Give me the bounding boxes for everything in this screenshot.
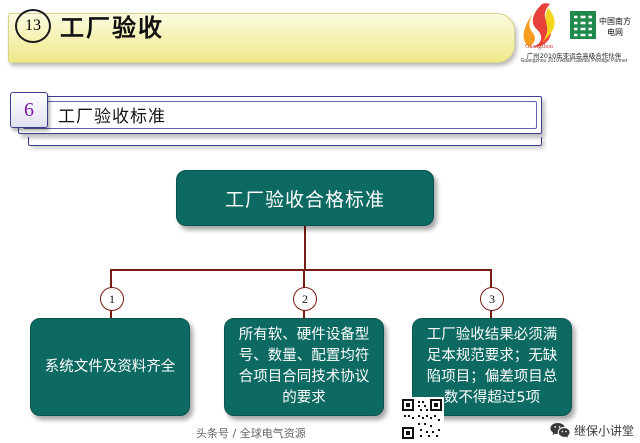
connector-branch-2: [303, 269, 305, 288]
logo-caption-english: Guangzhou 2010 Asian Games Prestige Part…: [512, 58, 636, 64]
footer-wechat-label: 继保小讲堂: [574, 422, 634, 439]
slide-canvas: 13 工厂验收 Guangzhou 中国南方 电网 广州2010年亚运会高级合作…: [0, 0, 640, 443]
qr-code: [400, 397, 444, 441]
diagram-branch-node-2: 所有软、硬件设备型号、数量、配置均符合项目合同技术协议的要求: [224, 318, 384, 416]
guangzhou-2010-asian-games-torch-logo: Guangzhou: [512, 2, 566, 50]
subheader-number: 6: [10, 92, 48, 128]
branch-marker-2: 2: [293, 287, 317, 311]
diagram-branch-node-1: 系统文件及资料齐全: [30, 318, 190, 416]
connector-root-vertical: [304, 226, 306, 270]
logo-area: Guangzhou 中国南方 电网 广州2010年亚运会高级合作伙伴 Guang…: [512, 2, 636, 68]
footer-wechat-block: 继保小讲堂: [550, 422, 634, 439]
footer-source-text: 头条号 / 全球电气资源: [196, 425, 306, 441]
page-title: 工厂验收: [60, 8, 164, 43]
subheader-title: 工厂验收标准: [58, 102, 166, 127]
china-southern-power-grid-logo: 中国南方 电网: [570, 5, 634, 47]
slide-title-number: 13: [15, 9, 51, 43]
branch-marker-3: 3: [480, 287, 504, 311]
wechat-icon: [550, 422, 570, 439]
svg-text:中国南方: 中国南方: [599, 16, 631, 26]
branch-marker-1: 1: [100, 287, 124, 311]
diagram-root-node: 工厂验收合格标准: [176, 170, 434, 226]
connector-branch-1: [110, 269, 112, 288]
connector-horizontal-bus: [110, 269, 492, 271]
svg-text:电网: 电网: [607, 27, 623, 37]
connector-branch-3: [490, 269, 492, 288]
subheader-shadow-strip: [28, 137, 542, 146]
